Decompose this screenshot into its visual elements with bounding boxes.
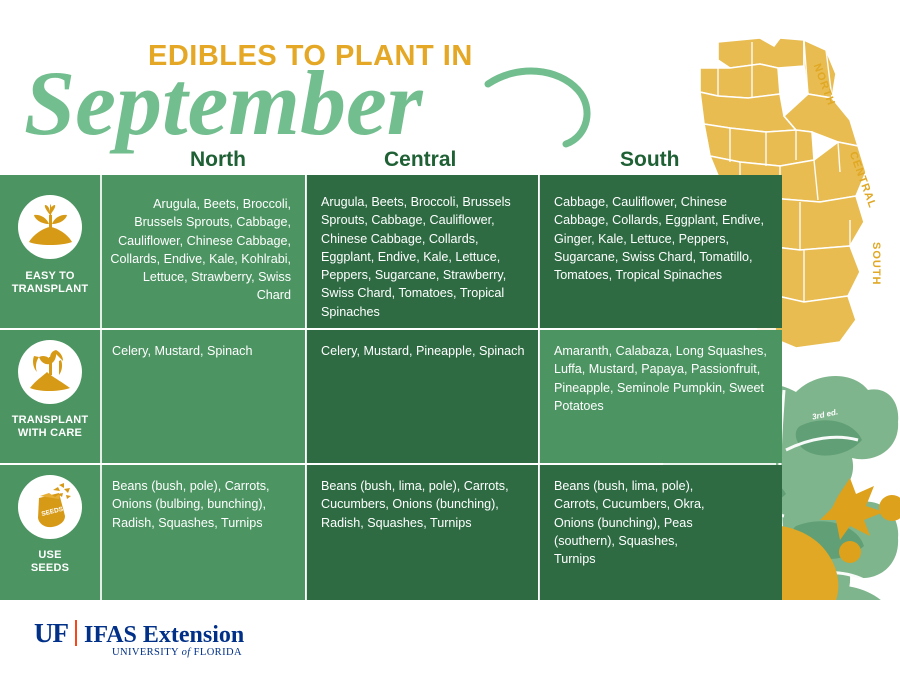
- row-label-text-1: EASY TO TRANSPLANT: [0, 270, 100, 295]
- col-separator-north: [305, 175, 307, 600]
- cell-seeds-north: Beans (bush, pole), Carrots, Onions (bul…: [100, 465, 305, 600]
- uf-ifas-text: IFAS Extension: [84, 622, 244, 648]
- row-label-text-2: TRANSPLANT WITH CARE: [0, 414, 100, 439]
- cell-text: Beans (bush, lima, pole), Carrots, Cucum…: [554, 477, 722, 568]
- cell-easy-north: Arugula, Beets, Broccoli, Brussels Sprou…: [100, 175, 305, 328]
- map-label-south: SOUTH: [870, 242, 882, 286]
- wilting-plant-icon-svg: [25, 347, 75, 397]
- cell-text: Arugula, Beets, Broccoli, Brussels Sprou…: [110, 195, 291, 305]
- row-label-line2-1: TRANSPLANT: [0, 283, 100, 296]
- row-label-transplant-with-care: TRANSPLANT WITH CARE: [0, 330, 100, 463]
- cell-easy-south: Cabbage, Cauliflower, Chinese Cabbage, C…: [539, 175, 782, 328]
- planting-table: North Central South E: [0, 175, 782, 600]
- row-label-easy-to-transplant: EASY TO TRANSPLANT: [0, 175, 100, 328]
- row-label-line1-1: EASY TO: [0, 270, 100, 283]
- column-header-north: North: [190, 148, 246, 172]
- row-label-line2-3: SEEDS: [0, 562, 100, 575]
- cell-text: Celery, Mustard, Spinach: [112, 342, 295, 360]
- seedling-icon: [18, 195, 82, 259]
- cell-text: Amaranth, Calabaza, Long Squashes, Luffa…: [554, 342, 770, 415]
- column-header-central: Central: [384, 148, 456, 172]
- uf-divider: [75, 620, 77, 646]
- col-separator-label: [100, 175, 102, 600]
- cell-seeds-central: Beans (bush, lima, pole), Carrots, Cucum…: [306, 465, 538, 600]
- uf-university-text: UNIVERSITY of FLORIDA: [112, 647, 244, 658]
- seedling-icon-svg: [25, 202, 75, 252]
- cell-seeds-south: Beans (bush, lima, pole), Carrots, Cucum…: [539, 465, 782, 600]
- cell-text: Arugula, Beets, Broccoli, Brussels Sprou…: [321, 193, 528, 321]
- cell-easy-central: Arugula, Beets, Broccoli, Brussels Sprou…: [306, 175, 538, 328]
- september-script-svg: September: [18, 48, 638, 158]
- uf-university-of: of: [182, 647, 191, 658]
- uf-university-post: FLORIDA: [194, 647, 242, 658]
- uf-university-pre: UNIVERSITY: [112, 647, 179, 658]
- cell-care-north: Celery, Mustard, Spinach: [100, 330, 305, 463]
- cell-text: Beans (bush, pole), Carrots, Onions (bul…: [112, 477, 295, 532]
- column-header-south: South: [620, 148, 679, 172]
- cell-care-south: Amaranth, Calabaza, Long Squashes, Luffa…: [539, 330, 782, 463]
- cell-text: Cabbage, Cauliflower, Chinese Cabbage, C…: [554, 193, 770, 284]
- seed-packet-icon: SEEDS: [18, 475, 82, 539]
- col-separator-central: [538, 175, 540, 600]
- uf-wordmark: UF: [34, 618, 68, 648]
- cell-care-central: Celery, Mustard, Pineapple, Spinach: [306, 330, 538, 463]
- row-label-line1-2: TRANSPLANT: [0, 414, 100, 427]
- row-label-use-seeds: SEEDS USE SEEDS: [0, 465, 100, 600]
- cell-text: Beans (bush, lima, pole), Carrots, Cucum…: [321, 477, 528, 532]
- footer: UFIFAS Extension UNIVERSITY of FLORIDA: [0, 600, 900, 675]
- infographic-root: NORTH CENTRAL SOUTH: [0, 0, 900, 675]
- row-label-line2-2: WITH CARE: [0, 427, 100, 440]
- wilting-plant-icon: [18, 340, 82, 404]
- row-label-text-3: USE SEEDS: [0, 549, 100, 574]
- row-label-line1-3: USE: [0, 549, 100, 562]
- uf-ifas-logo: UFIFAS Extension UNIVERSITY of FLORIDA: [34, 618, 244, 658]
- september-script-text: September: [24, 52, 424, 154]
- cell-text: Celery, Mustard, Pineapple, Spinach: [321, 342, 528, 360]
- seed-packet-icon-svg: SEEDS: [25, 482, 75, 532]
- page-title-script: September: [18, 48, 638, 158]
